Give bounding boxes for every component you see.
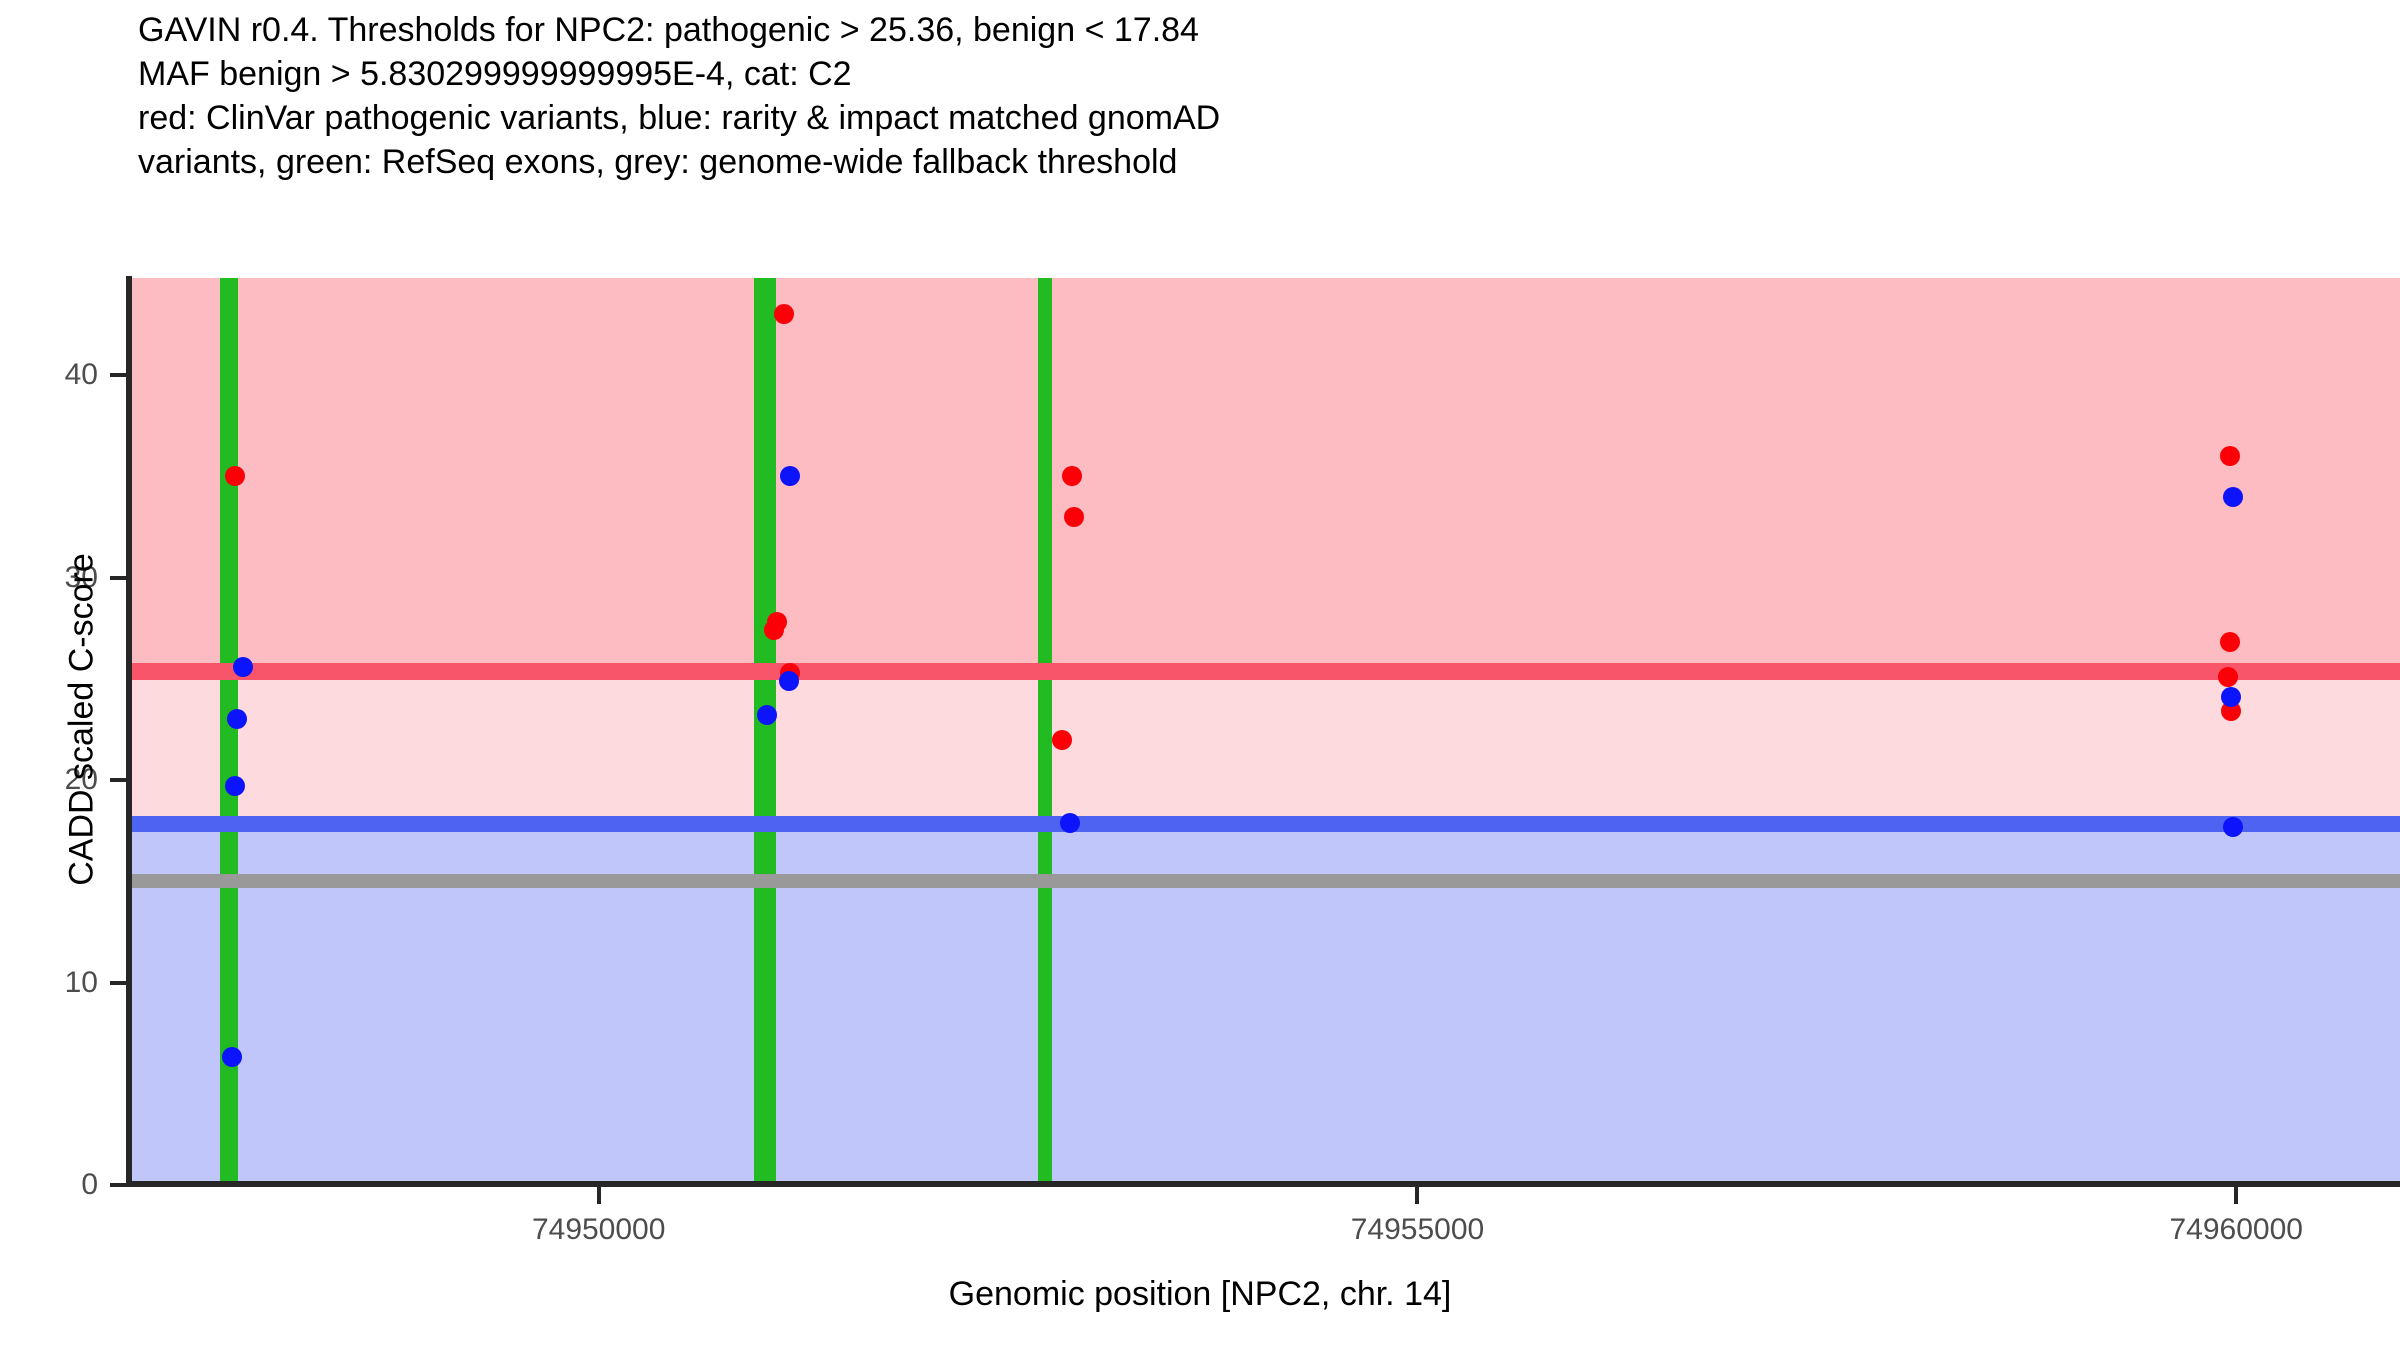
data-point bbox=[1052, 730, 1072, 750]
x-tick-label: 74955000 bbox=[1351, 1213, 1484, 1247]
x-axis-label: Genomic position [NPC2, chr. 14] bbox=[0, 1275, 2400, 1314]
y-axis-line bbox=[126, 276, 132, 1187]
refseq-exon-bar bbox=[754, 278, 775, 1185]
x-axis-line bbox=[126, 1181, 2400, 1187]
threshold-line bbox=[132, 816, 2400, 832]
x-tick-mark bbox=[597, 1187, 601, 1204]
zone-band bbox=[132, 278, 2400, 672]
y-tick-mark bbox=[110, 576, 127, 580]
y-tick-mark bbox=[110, 981, 127, 985]
data-point bbox=[1064, 507, 1084, 527]
data-point bbox=[2223, 487, 2243, 507]
x-tick-label: 74950000 bbox=[532, 1213, 665, 1247]
y-tick-label: 0 bbox=[0, 1168, 98, 1202]
data-point bbox=[2223, 817, 2243, 837]
refseq-exon-bar bbox=[1038, 278, 1053, 1185]
y-tick-mark bbox=[110, 373, 127, 377]
data-point bbox=[2220, 632, 2240, 652]
x-tick-label: 74960000 bbox=[2169, 1213, 2302, 1247]
plot-panel bbox=[132, 278, 2400, 1185]
data-point bbox=[233, 657, 253, 677]
data-point bbox=[2218, 667, 2238, 687]
scatter-plot: 010203040 749500007495500074960000 CADD … bbox=[0, 0, 2400, 1350]
y-tick-mark bbox=[110, 1183, 127, 1187]
zone-band bbox=[132, 672, 2400, 824]
x-tick-mark bbox=[2234, 1187, 2238, 1204]
x-tick-mark bbox=[1415, 1187, 1419, 1204]
data-point bbox=[779, 671, 799, 691]
threshold-line bbox=[132, 874, 2400, 888]
threshold-line bbox=[132, 663, 2400, 680]
y-tick-mark bbox=[110, 778, 127, 782]
y-axis-label: CADD scaled C-score bbox=[63, 340, 102, 1100]
data-point bbox=[2220, 446, 2240, 466]
data-point bbox=[1060, 813, 1080, 833]
